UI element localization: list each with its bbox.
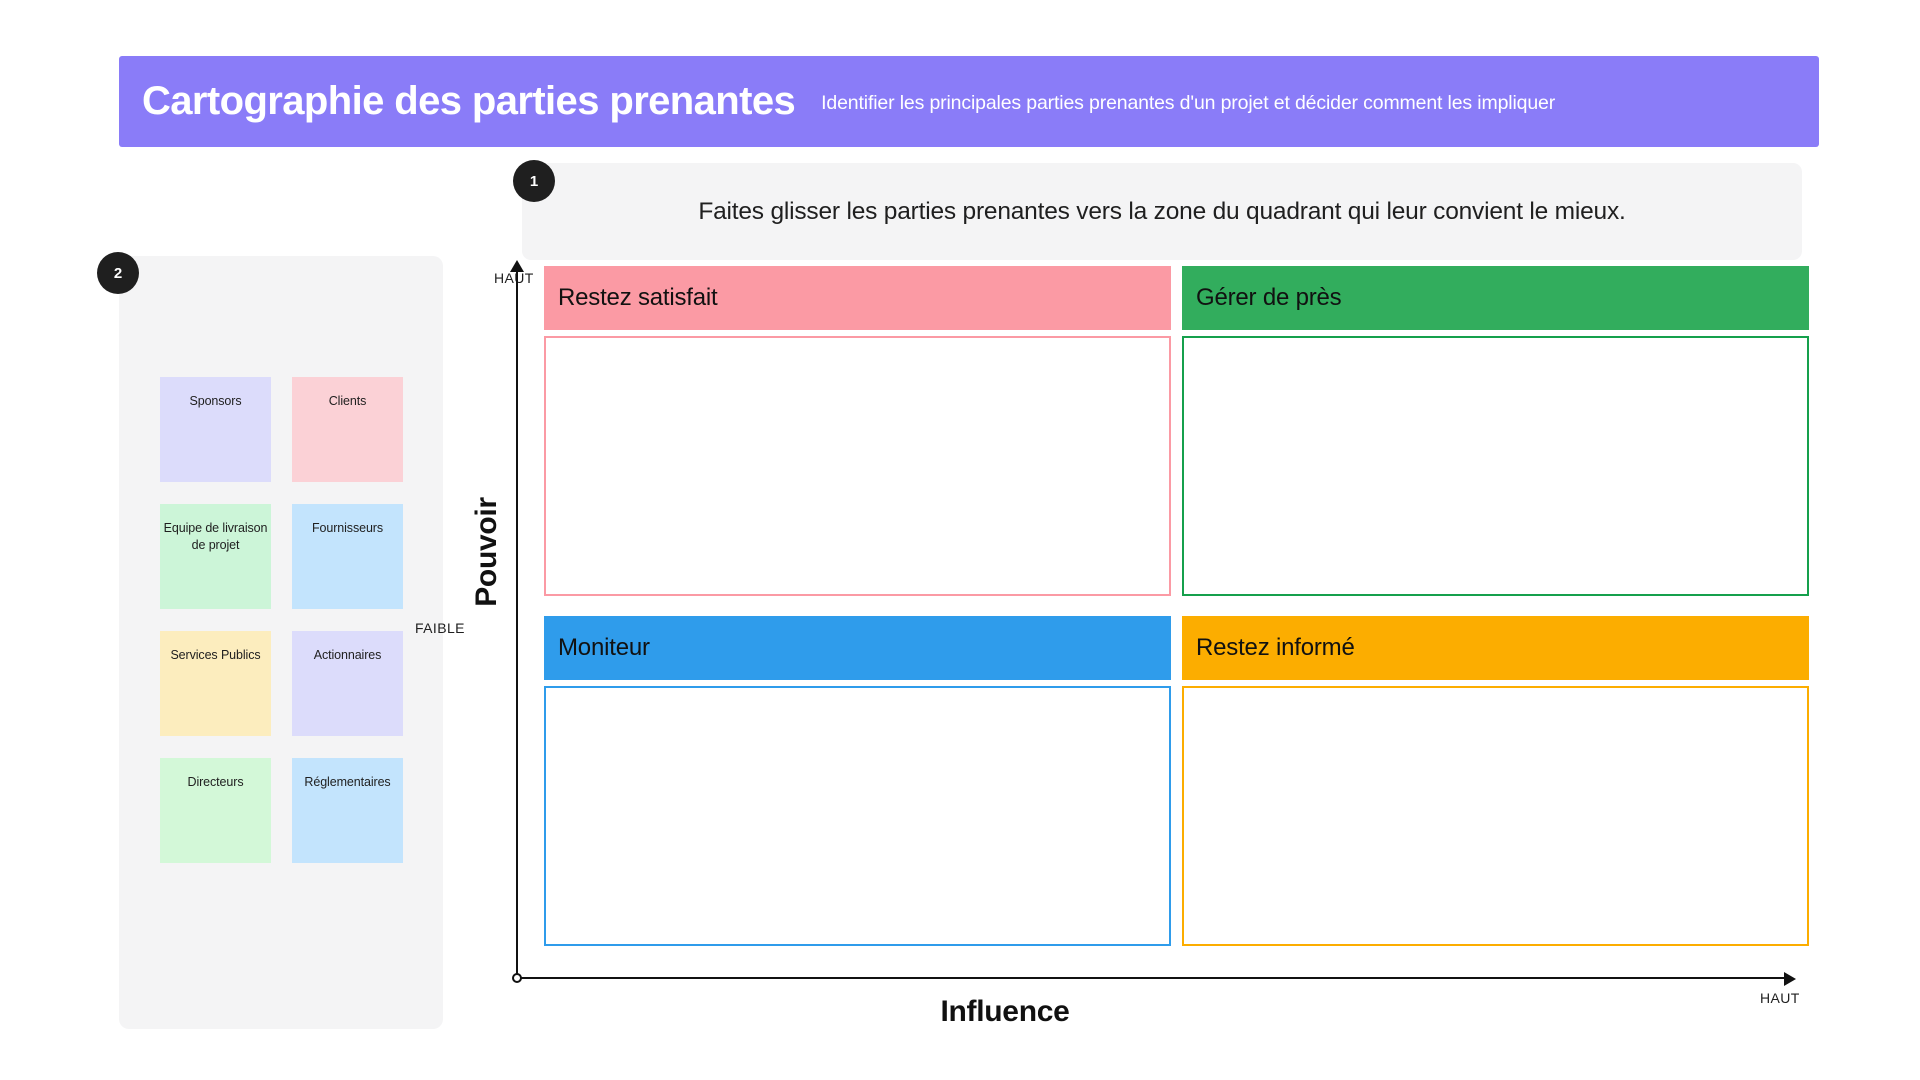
stakeholder-card[interactable]: Directeurs [160,758,271,863]
quadrant-gerer-de-pres: Gérer de près [1182,266,1809,596]
axis-origin-icon [512,973,522,983]
quadrant-dropzone[interactable] [1182,686,1809,946]
stakeholder-card-label: Services Publics [170,647,260,664]
stakeholder-card-label: Sponsors [189,393,241,410]
y-axis-arrow-icon [510,260,524,272]
stakeholder-card[interactable]: Réglementaires [292,758,403,863]
stakeholder-card[interactable]: Services Publics [160,631,271,736]
stakeholder-card[interactable]: Clients [292,377,403,482]
instruction-banner: Faites glisser les parties prenantes ver… [522,163,1802,260]
quadrant-moniteur: Moniteur [544,616,1171,946]
quadrant-dropzone[interactable] [544,686,1171,946]
stakeholder-card-label: Equipe de livraison de projet [160,520,271,553]
quadrant-header: Restez informé [1182,616,1809,680]
quadrant-title: Moniteur [558,634,650,662]
quadrant-title: Restez satisfait [558,284,718,312]
quadrant-header: Gérer de près [1182,266,1809,330]
quadrant-title: Restez informé [1196,634,1355,662]
quadrant-title: Gérer de près [1196,284,1341,312]
page-subtitle: Identifier les principales parties prena… [821,92,1555,115]
stakeholder-card-label: Clients [329,393,367,410]
stakeholder-card[interactable]: Actionnaires [292,631,403,736]
step-badge-1: 1 [513,160,555,202]
stakeholder-card-label: Actionnaires [314,647,382,664]
stakeholder-card-label: Fournisseurs [312,520,383,537]
quadrant-restez-satisfait: Restez satisfait [544,266,1171,596]
x-axis-arrow-icon [1784,972,1796,986]
stakeholder-card[interactable]: Sponsors [160,377,271,482]
page-header: Cartographie des parties prenantes Ident… [119,56,1819,147]
page-title: Cartographie des parties prenantes [142,79,795,124]
stakeholder-card-label: Réglementaires [304,774,390,791]
x-axis-line [517,977,1787,979]
stakeholder-card-grid: Sponsors Clients Equipe de livraison de … [160,377,403,863]
quadrant-restez-informe: Restez informé [1182,616,1809,946]
step-badge-2: 2 [97,252,139,294]
quadrant-dropzone[interactable] [1182,336,1809,596]
quadrant-grid: Restez satisfait Gérer de près Moniteur … [544,266,1809,946]
stakeholder-card[interactable]: Fournisseurs [292,504,403,609]
x-axis-low-cap: FAIBLE [415,620,465,636]
quadrant-header: Restez satisfait [544,266,1171,330]
instruction-text: Faites glisser les parties prenantes ver… [698,198,1625,226]
quadrant-header: Moniteur [544,616,1171,680]
y-axis-line [516,268,518,978]
stakeholder-card-label: Directeurs [188,774,244,791]
stakeholder-mapping-canvas: Cartographie des parties prenantes Ident… [0,0,1920,1080]
quadrant-dropzone[interactable] [544,336,1171,596]
stakeholder-sidebar: Sponsors Clients Equipe de livraison de … [119,256,443,1029]
stakeholder-card[interactable]: Equipe de livraison de projet [160,504,271,609]
